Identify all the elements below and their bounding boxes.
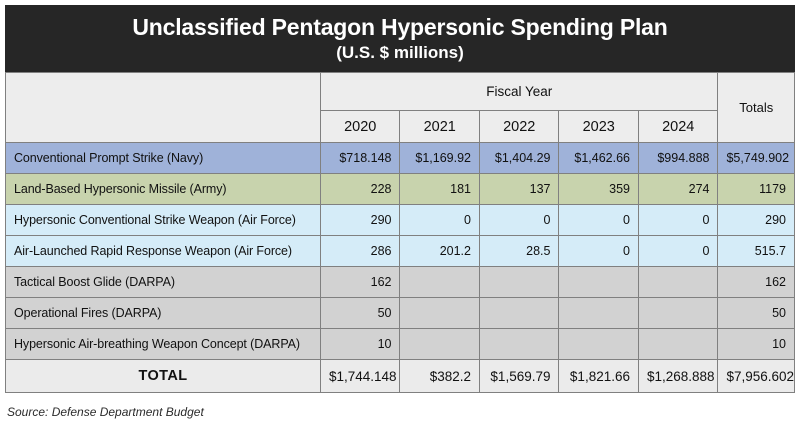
table-total-row: TOTAL $1,744.148 $382.2 $1,569.79 $1,821… [6, 360, 795, 393]
cell-2021: 181 [400, 174, 480, 205]
cell-2024 [638, 298, 718, 329]
table-row: Hypersonic Conventional Strike Weapon (A… [6, 205, 795, 236]
table-row: Air-Launched Rapid Response Weapon (Air … [6, 236, 795, 267]
total-cell-2020: $1,744.148 [320, 360, 400, 393]
cell-2022: 137 [479, 174, 559, 205]
grand-total-cell: $7,956.602 [718, 360, 795, 393]
cell-2021 [400, 298, 480, 329]
table-body: Conventional Prompt Strike (Navy) $718.1… [6, 143, 795, 393]
cell-2024: 274 [638, 174, 718, 205]
spending-table-container: Fiscal Year Totals 2020 2021 2022 2023 2… [5, 72, 795, 393]
cell-2024 [638, 267, 718, 298]
cell-2024 [638, 329, 718, 360]
cell-2020: 228 [320, 174, 400, 205]
cell-2021: $1,169.92 [400, 143, 480, 174]
cell-2023: 0 [559, 205, 639, 236]
program-name: Air-Launched Rapid Response Weapon (Air … [6, 236, 321, 267]
year-header-2021: 2021 [400, 111, 480, 143]
program-name: Conventional Prompt Strike (Navy) [6, 143, 321, 174]
year-header-2020: 2020 [320, 111, 400, 143]
cell-2023: 359 [559, 174, 639, 205]
cell-2023 [559, 298, 639, 329]
program-name: Hypersonic Conventional Strike Weapon (A… [6, 205, 321, 236]
cell-2022: $1,404.29 [479, 143, 559, 174]
total-row-label: TOTAL [6, 360, 321, 393]
table-head: Fiscal Year Totals 2020 2021 2022 2023 2… [6, 73, 795, 143]
cell-2023: 0 [559, 236, 639, 267]
page-subtitle: (U.S. $ millions) [336, 42, 464, 63]
table-row: Hypersonic Air-breathing Weapon Concept … [6, 329, 795, 360]
cell-total: 50 [718, 298, 795, 329]
cell-2023 [559, 267, 639, 298]
cell-2023 [559, 329, 639, 360]
table-row: Conventional Prompt Strike (Navy) $718.1… [6, 143, 795, 174]
program-column-header [6, 73, 321, 143]
infographic-table-page: Unclassified Pentagon Hypersonic Spendin… [0, 0, 800, 433]
program-name: Hypersonic Air-breathing Weapon Concept … [6, 329, 321, 360]
cell-2024: $994.888 [638, 143, 718, 174]
page-title: Unclassified Pentagon Hypersonic Spendin… [132, 14, 667, 41]
table-row: Operational Fires (DARPA) 50 50 [6, 298, 795, 329]
cell-2020: 50 [320, 298, 400, 329]
cell-2022: 28.5 [479, 236, 559, 267]
cell-2020: $718.148 [320, 143, 400, 174]
header-row-group: Fiscal Year Totals [6, 73, 795, 111]
cell-2021 [400, 267, 480, 298]
totals-column-header: Totals [718, 73, 795, 143]
total-cell-2021: $382.2 [400, 360, 480, 393]
cell-total: 515.7 [718, 236, 795, 267]
cell-total: 290 [718, 205, 795, 236]
cell-total: 1179 [718, 174, 795, 205]
cell-2021: 201.2 [400, 236, 480, 267]
cell-2022 [479, 329, 559, 360]
spending-table: Fiscal Year Totals 2020 2021 2022 2023 2… [5, 72, 795, 393]
cell-2023: $1,462.66 [559, 143, 639, 174]
cell-total: 10 [718, 329, 795, 360]
cell-2022 [479, 298, 559, 329]
cell-2020: 290 [320, 205, 400, 236]
cell-2020: 286 [320, 236, 400, 267]
total-cell-2022: $1,569.79 [479, 360, 559, 393]
source-caption: Source: Defense Department Budget [7, 405, 204, 419]
table-row: Land-Based Hypersonic Missile (Army) 228… [6, 174, 795, 205]
program-name: Tactical Boost Glide (DARPA) [6, 267, 321, 298]
cell-total: $5,749.902 [718, 143, 795, 174]
program-name: Land-Based Hypersonic Missile (Army) [6, 174, 321, 205]
total-cell-2024: $1,268.888 [638, 360, 718, 393]
cell-2020: 10 [320, 329, 400, 360]
title-banner: Unclassified Pentagon Hypersonic Spendin… [5, 5, 795, 72]
year-header-2024: 2024 [638, 111, 718, 143]
program-name: Operational Fires (DARPA) [6, 298, 321, 329]
year-header-2022: 2022 [479, 111, 559, 143]
table-row: Tactical Boost Glide (DARPA) 162 162 [6, 267, 795, 298]
cell-2022: 0 [479, 205, 559, 236]
fiscal-year-group-header: Fiscal Year [320, 73, 718, 111]
cell-2022 [479, 267, 559, 298]
year-header-2023: 2023 [559, 111, 639, 143]
cell-2024: 0 [638, 205, 718, 236]
cell-2020: 162 [320, 267, 400, 298]
cell-2024: 0 [638, 236, 718, 267]
cell-2021 [400, 329, 480, 360]
total-cell-2023: $1,821.66 [559, 360, 639, 393]
cell-total: 162 [718, 267, 795, 298]
cell-2021: 0 [400, 205, 480, 236]
